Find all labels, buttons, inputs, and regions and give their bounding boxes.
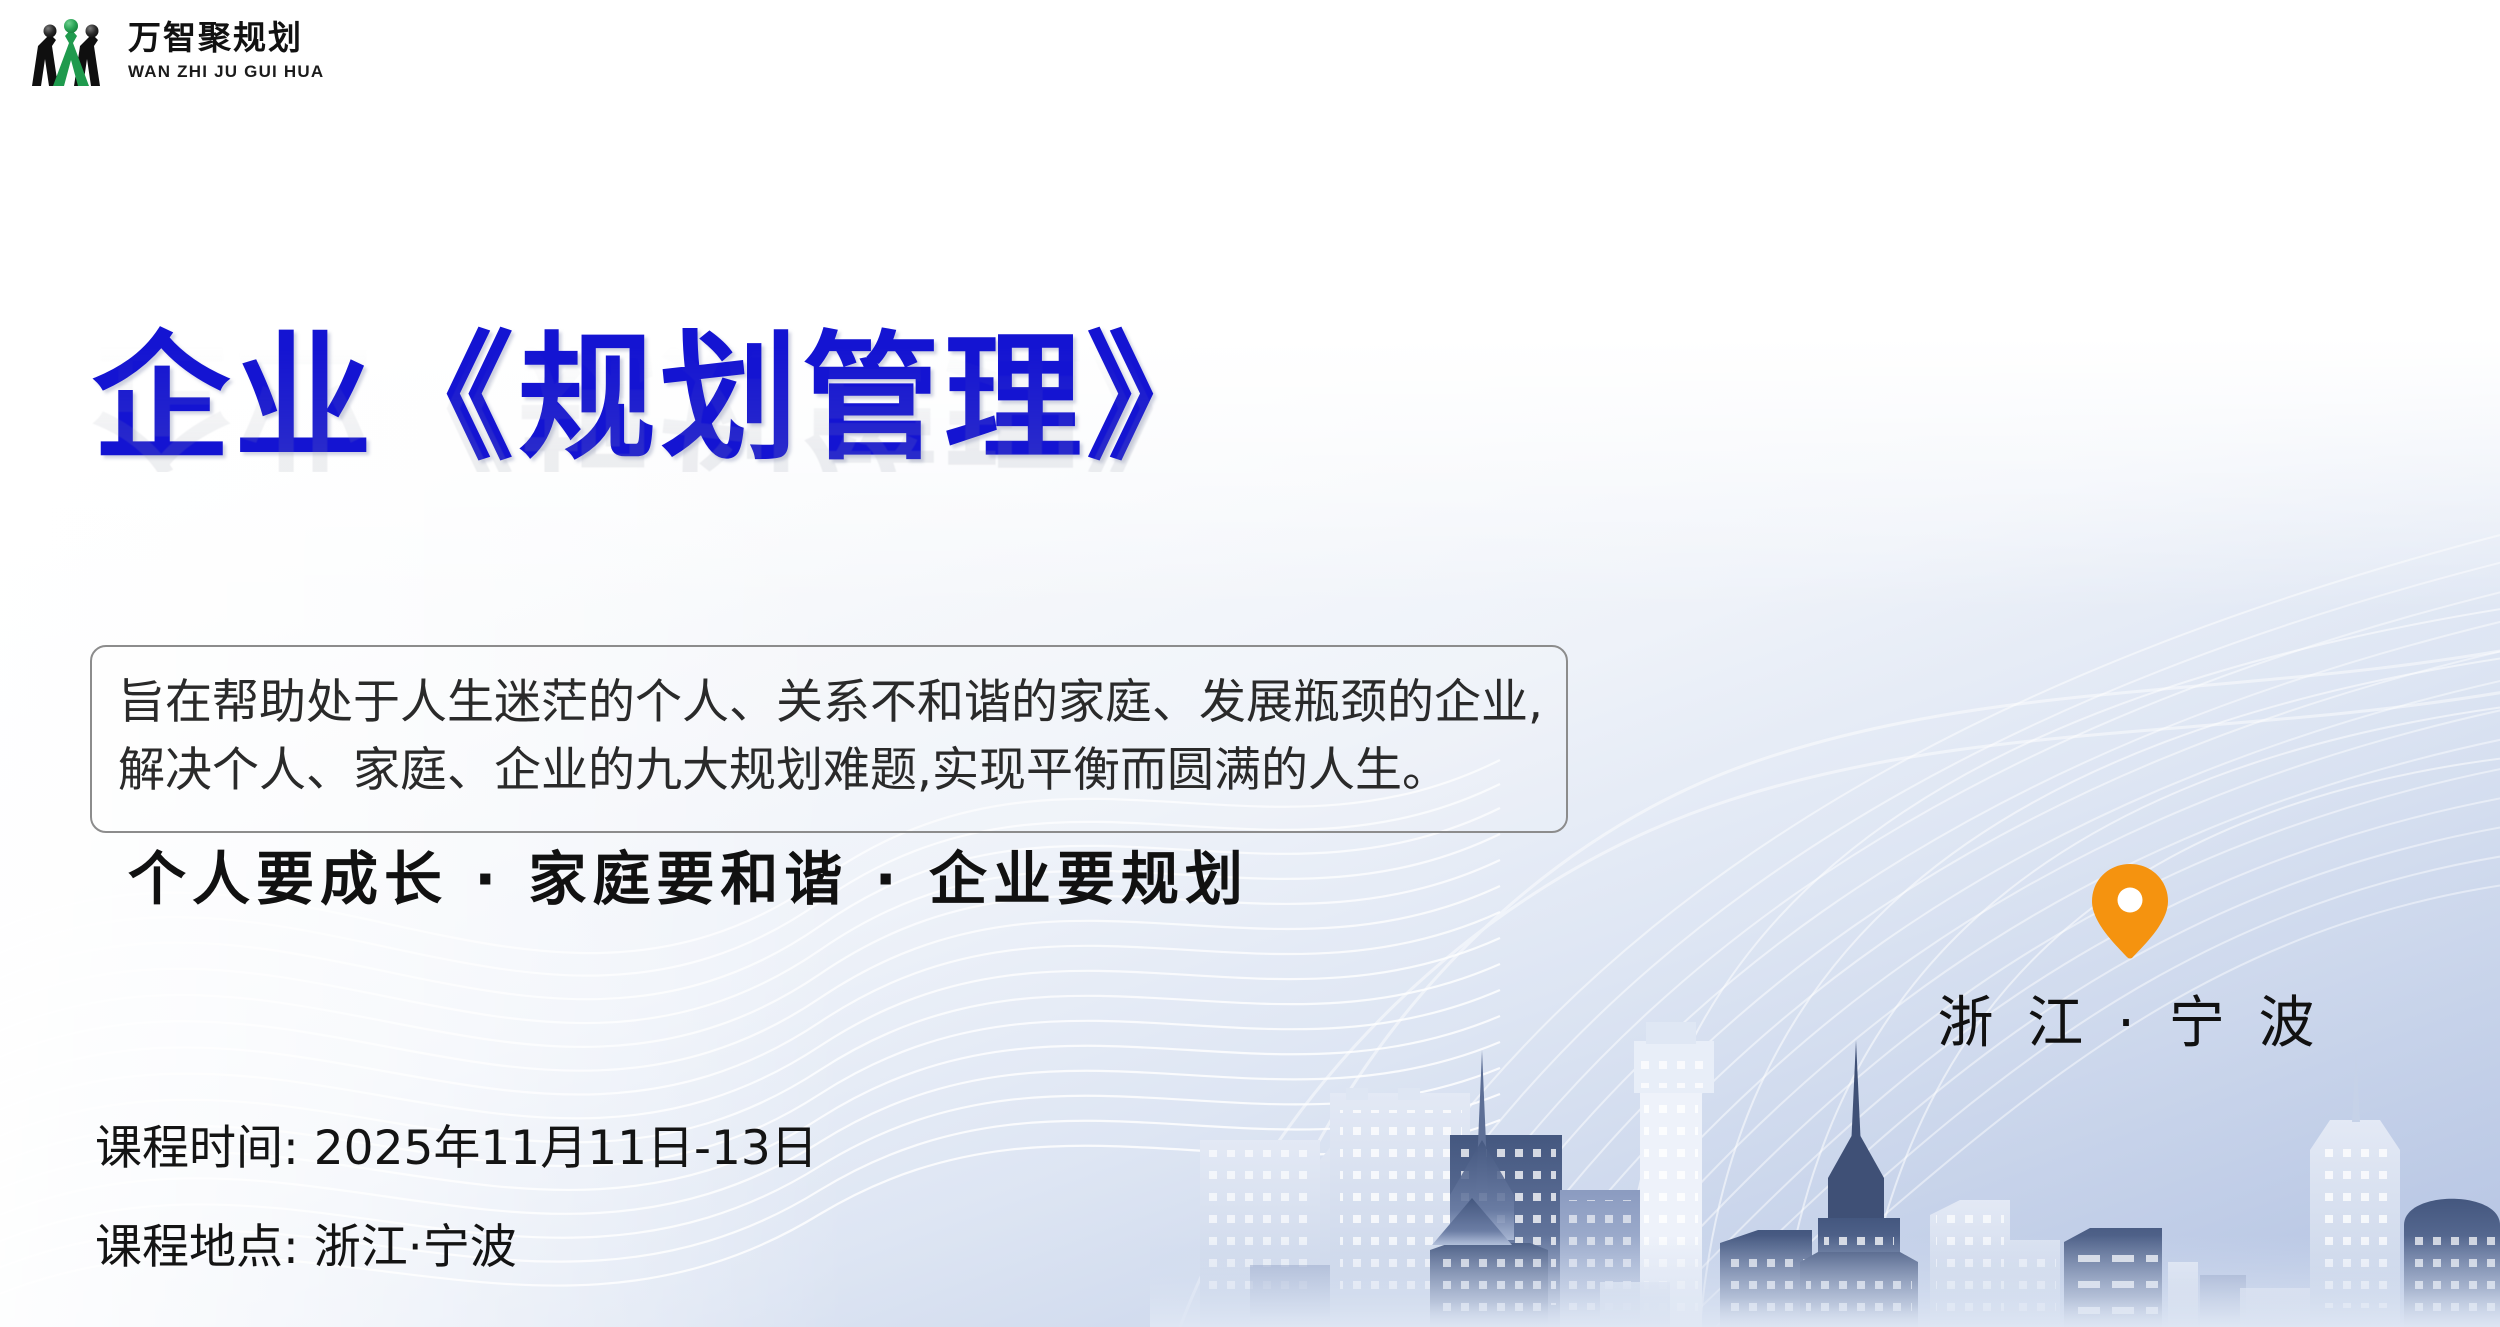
three-people-logo-icon xyxy=(28,14,114,88)
description-line-1: 旨在帮助处于人生迷茫的个人、关系不和谐的家庭、发展瓶颈的企业, xyxy=(118,669,1540,737)
description-box: 旨在帮助处于人生迷茫的个人、关系不和谐的家庭、发展瓶颈的企业, 解决个人、家庭、… xyxy=(90,645,1568,833)
course-info: 课程时间: 2025年11月11日-13日 课程地点: 浙江·宁波 xyxy=(95,1125,818,1271)
hero-title-block: 企业《规划管理》 企业《规划管理》 xyxy=(92,330,1652,640)
course-place-line: 课程地点: 浙江·宁波 xyxy=(95,1224,818,1271)
poster-canvas: 万智聚规划 WAN ZHI JU GUI HUA 企业《规划管理》 企业《规划管… xyxy=(0,0,2500,1327)
map-pin-icon xyxy=(2084,862,2176,960)
slogan-text: 个人要成长 · 家庭要和谐 · 企业要规划 xyxy=(128,832,1249,916)
brand-logo[interactable]: 万智聚规划 WAN ZHI JU GUI HUA xyxy=(28,14,324,88)
location-label: 浙 江 · 宁 波 xyxy=(1938,978,2323,1059)
page-title-reflection: 企业《规划管理》 xyxy=(92,334,1652,472)
description-line-2: 解决个人、家庭、企业的九大规划难题,实现平衡而圆满的人生。 xyxy=(118,737,1540,805)
brand-name-cn: 万智聚规划 xyxy=(128,23,324,56)
brand-logo-text: 万智聚规划 WAN ZHI JU GUI HUA xyxy=(128,23,324,80)
location-badge: 浙 江 · 宁 波 xyxy=(1950,862,2310,1059)
brand-name-en: WAN ZHI JU GUI HUA xyxy=(128,63,324,80)
course-time-line: 课程时间: 2025年11月11日-13日 xyxy=(95,1125,818,1172)
